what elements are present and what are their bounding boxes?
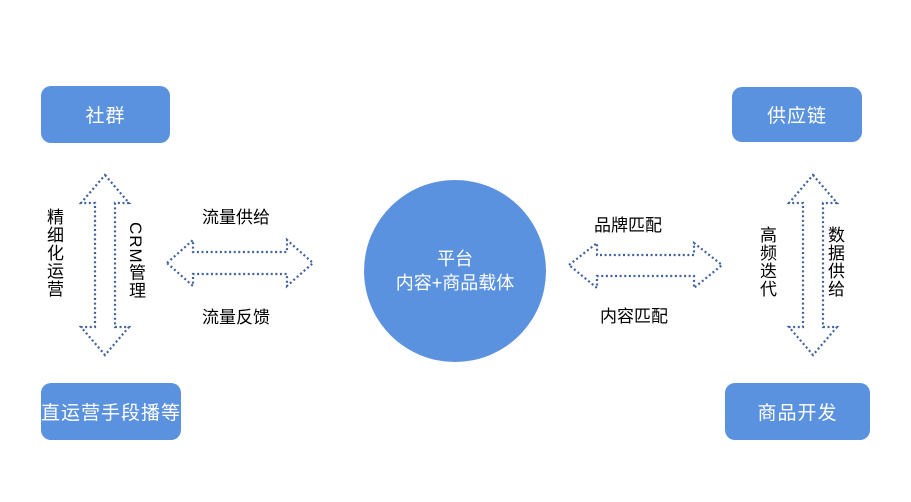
node-supply-chain-label: 供应链 xyxy=(767,101,827,128)
label-high-frequency-iteration: 高频迭代 xyxy=(758,226,775,298)
node-platform-title: 平台 xyxy=(437,247,473,271)
node-community[interactable]: 社群 xyxy=(41,86,170,143)
label-refined-operations: 精细化运营 xyxy=(45,208,62,298)
node-live-ops[interactable]: 直运营手段播等 xyxy=(41,383,181,440)
node-product-development[interactable]: 商品开发 xyxy=(725,383,870,440)
label-traffic-supply: 流量供给 xyxy=(202,203,270,228)
node-platform-subtitle: 内容+商品载体 xyxy=(396,271,515,295)
node-supply-chain[interactable]: 供应链 xyxy=(732,87,862,142)
label-content-match: 内容匹配 xyxy=(600,302,668,327)
diagram-canvas: 社群 直运营手段播等 精细化运营 CRM管理 流量供给 流量反馈 平台 内容+商… xyxy=(0,0,911,502)
node-live-ops-label: 直运营手段播等 xyxy=(41,398,181,425)
double-headed-vertical-arrow-left xyxy=(79,173,131,357)
label-data-supply: 数据供给 xyxy=(826,226,843,298)
label-brand-match: 品牌匹配 xyxy=(594,211,662,236)
double-headed-horizontal-arrow-right xyxy=(567,241,724,290)
label-crm-management: CRM管理 xyxy=(127,222,144,300)
double-headed-horizontal-arrow-left xyxy=(165,238,315,288)
node-product-development-label: 商品开发 xyxy=(757,398,837,425)
label-traffic-feedback: 流量反馈 xyxy=(202,303,270,328)
node-platform[interactable]: 平台 内容+商品载体 xyxy=(364,180,546,362)
node-community-label: 社群 xyxy=(85,101,125,128)
